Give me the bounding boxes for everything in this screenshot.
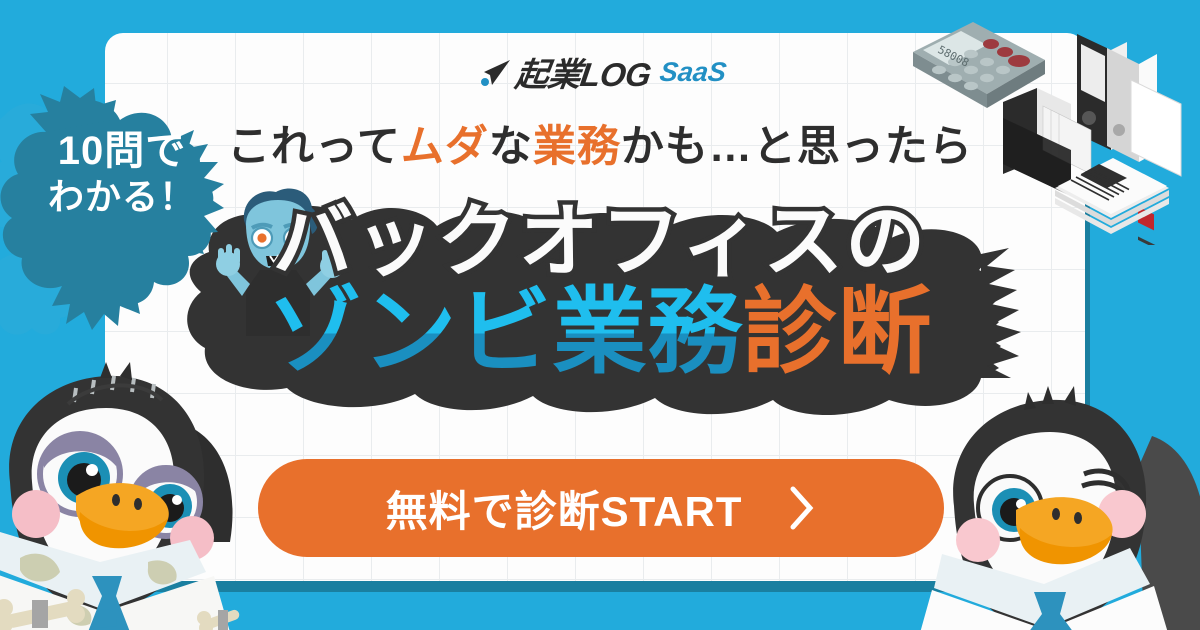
- chevron-right-icon: [788, 485, 816, 531]
- headline: これってムダな業務かも…と思ったら: [0, 112, 1200, 174]
- cta-label: 無料で診断START: [386, 478, 743, 539]
- zombie-penguin-left: [0, 362, 280, 630]
- start-diagnosis-button[interactable]: 無料で診断START: [258, 459, 944, 557]
- headline-part1: これって: [227, 123, 401, 171]
- headline-part2: な: [489, 123, 533, 171]
- logo-saas-text: SaaS: [658, 57, 728, 88]
- penguin-cheek-left: [956, 518, 1000, 562]
- headline-part3: かも…と思ったら: [621, 123, 973, 171]
- brand-logo[interactable]: 起業LOG SaaS: [478, 48, 726, 96]
- logo-main-text: 起業LOG: [513, 48, 655, 96]
- headline-highlight-muda: ムダ: [401, 123, 489, 171]
- poster-canvas: 58008: [0, 0, 1200, 630]
- title-zombie-gyomu: ゾンビ業務: [267, 279, 742, 384]
- penguin-cheek-left: [12, 490, 60, 538]
- badge-line-2: わかる！: [22, 174, 222, 220]
- winking-penguin-right: [916, 378, 1200, 630]
- bone-decoration-2: [197, 608, 241, 630]
- headline-highlight-gyomu: 業務: [533, 123, 621, 171]
- paper-plane-icon: [478, 58, 510, 86]
- title-shindan: 診断: [743, 279, 933, 384]
